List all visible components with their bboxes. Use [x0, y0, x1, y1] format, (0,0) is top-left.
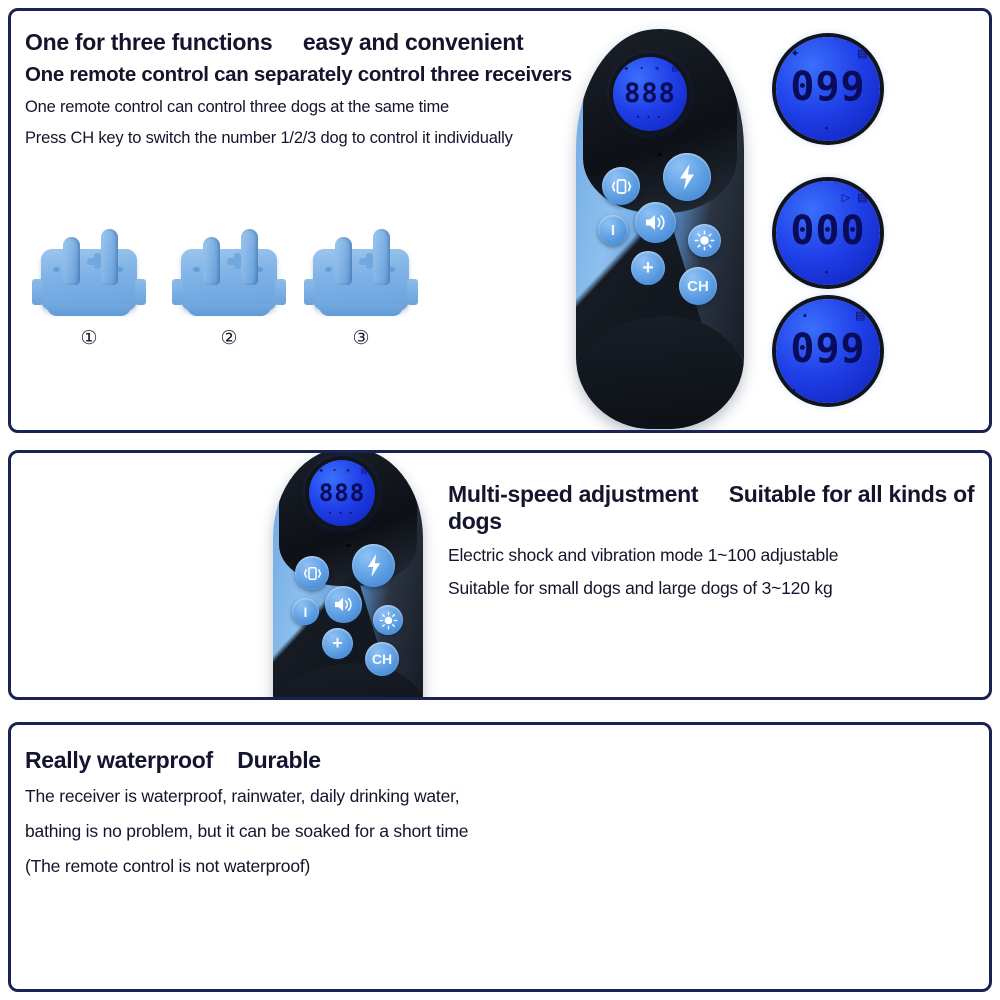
- vibration-icon: ▪: [333, 467, 335, 474]
- lcd-indicator-row: ▷ ▤: [791, 191, 868, 203]
- panel-waterproof: Really waterproof Durable The receiver i…: [8, 722, 992, 992]
- lcd-value: 099: [776, 326, 880, 372]
- vibration-icon: ▪: [640, 65, 642, 72]
- lcd-dot-row: ▪: [776, 267, 880, 277]
- mode-button[interactable]: I: [598, 215, 628, 245]
- waterproof-text-block: Really waterproof Durable The receiver i…: [25, 747, 468, 877]
- vibration-icon: [611, 178, 632, 195]
- prong-icon: [101, 229, 118, 285]
- light-button[interactable]: [373, 605, 403, 635]
- screw-icon: [193, 267, 200, 272]
- screw-icon: [325, 267, 332, 272]
- microphone-icon: [346, 544, 351, 547]
- battery-icon: ▤: [857, 47, 867, 60]
- prong-icon: [335, 237, 352, 285]
- prong-icon: [373, 229, 390, 285]
- panel-multi-speed: ✦ ▪ ☀ ▤ 888 ▪ ▪ ▪ I: [8, 450, 992, 700]
- plus-icon: +: [332, 633, 343, 654]
- receiver-group: ① ② ③: [29, 223, 429, 363]
- vibration-icon: [303, 566, 322, 581]
- receiver-clip-left: [304, 279, 315, 305]
- receiver-clip-left: [172, 279, 183, 305]
- receiver-clip-right: [407, 279, 418, 305]
- lcd-dot-row: ▪ ▪ ▪: [309, 510, 375, 517]
- channel-button[interactable]: CH: [679, 267, 717, 305]
- speed-heading-main-2: dogs: [448, 508, 977, 535]
- sun-icon: [379, 611, 398, 630]
- light-button[interactable]: [688, 224, 721, 257]
- lcd-indicator-row: ✦ ▪ ☀ ▤: [318, 467, 367, 475]
- battery-icon: ▤: [857, 191, 867, 204]
- channel-label: CH: [687, 278, 709, 295]
- light-icon: ☀: [345, 467, 351, 475]
- features-heading-main: One for three functions easy and conveni…: [25, 29, 572, 56]
- lcd-indicator-row: ▪ ▤: [803, 309, 865, 321]
- receiver-number: ③: [301, 327, 421, 350]
- beep-icon: ▷: [842, 191, 850, 204]
- battery-icon: ▤: [855, 309, 865, 322]
- beep-button[interactable]: [325, 586, 362, 623]
- shock-icon: ✦: [318, 467, 324, 475]
- light-icon: ☀: [654, 65, 660, 73]
- speed-text-block: Multi-speed adjustment Suitable for all …: [448, 481, 977, 599]
- sun-icon: [694, 230, 715, 251]
- features-text-block: One for three functions easy and conveni…: [25, 29, 572, 148]
- lcd-indicator-row: ✦ ▤: [791, 47, 868, 59]
- plus-icon: +: [642, 257, 654, 280]
- remote-lcd-display: ✦ ▪ ☀ ▤ 888 ▪ ▪ ▪: [613, 57, 687, 131]
- receiver-item: ②: [169, 223, 289, 363]
- speed-line-1: Electric shock and vibration mode 1~100 …: [448, 545, 977, 566]
- receiver-number: ②: [169, 327, 289, 350]
- lcd-dot-row: ▪: [776, 385, 880, 395]
- receiver-body: [181, 249, 277, 311]
- bar-icon: I: [611, 222, 615, 239]
- lcd-dot-row: ▪ ▪ ▪: [613, 114, 687, 121]
- mode-button[interactable]: I: [292, 598, 319, 625]
- vibration-button[interactable]: [602, 167, 640, 205]
- plus-button[interactable]: +: [322, 628, 353, 659]
- prong-icon: [63, 237, 80, 285]
- shock-icon: ✦: [791, 47, 800, 60]
- lcd-indicator-row: ✦ ▪ ☀ ▤: [623, 64, 678, 73]
- waterproof-line-3: (The remote control is not waterproof): [25, 856, 468, 877]
- receiver-clip-left: [32, 279, 43, 305]
- battery-icon: ▤: [360, 467, 367, 475]
- screw-icon: [53, 267, 60, 272]
- battery-icon: ▤: [671, 65, 678, 73]
- channel-label: CH: [372, 651, 392, 667]
- waterproof-line-1: The receiver is waterproof, rainwater, d…: [25, 786, 468, 807]
- lcd-value: 000: [776, 208, 880, 254]
- receiver-body: [313, 249, 409, 311]
- lcd-channel-three: ▪ ▤ 099 ▪: [776, 299, 880, 403]
- vibration-button[interactable]: [295, 556, 329, 590]
- speaker-icon: [644, 213, 667, 232]
- prong-icon: [241, 229, 258, 285]
- shock-button[interactable]: [352, 544, 395, 587]
- receiver-number: ①: [29, 327, 149, 350]
- lcd-value: 099: [776, 64, 880, 110]
- receiver-clip-right: [135, 279, 146, 305]
- waterproof-line-2: bathing is no problem, but it can be soa…: [25, 821, 468, 842]
- lcd-channel-two: ▷ ▤ 000 ▪: [776, 181, 880, 285]
- lcd-value: 888: [613, 78, 687, 109]
- features-line-1: One remote control can control three dog…: [25, 98, 572, 117]
- features-line-2: Press CH key to switch the number 1/2/3 …: [25, 129, 572, 148]
- speed-line-2: Suitable for small dogs and large dogs o…: [448, 578, 977, 599]
- channel-button[interactable]: CH: [365, 642, 399, 676]
- receiver-clip-right: [275, 279, 286, 305]
- lightning-icon: [678, 164, 696, 190]
- lcd-value: 888: [309, 479, 375, 507]
- panel-three-functions: One for three functions easy and conveni…: [8, 8, 992, 433]
- receiver-body: [41, 249, 137, 311]
- speaker-icon: [333, 596, 354, 613]
- features-heading-sub: One remote control can separately contro…: [25, 63, 572, 87]
- prong-icon: [203, 237, 220, 285]
- lightning-icon: [366, 554, 382, 577]
- waterproof-heading-main: Really waterproof Durable: [25, 747, 468, 774]
- microphone-icon: [657, 153, 662, 156]
- receiver-item: ①: [29, 223, 149, 363]
- bar-icon: I: [304, 604, 308, 620]
- remote-control: ✦ ▪ ☀ ▤ 888 ▪ ▪ ▪ I: [273, 450, 423, 700]
- receiver-item: ③: [301, 223, 421, 363]
- shock-icon: ✦: [623, 65, 629, 73]
- lcd-dot-row: ▪: [776, 123, 880, 133]
- lcd-channel-one: ✦ ▤ 099 ▪: [776, 37, 880, 141]
- remote-lcd-display: ✦ ▪ ☀ ▤ 888 ▪ ▪ ▪: [309, 460, 375, 526]
- plus-button[interactable]: +: [631, 251, 665, 285]
- shock-button[interactable]: [663, 153, 711, 201]
- beep-button[interactable]: [635, 202, 676, 243]
- vibration-icon: ▪: [803, 310, 807, 322]
- speed-heading-main: Multi-speed adjustment Suitable for all …: [448, 481, 977, 508]
- remote-control: ✦ ▪ ☀ ▤ 888 ▪ ▪ ▪ I: [576, 29, 744, 429]
